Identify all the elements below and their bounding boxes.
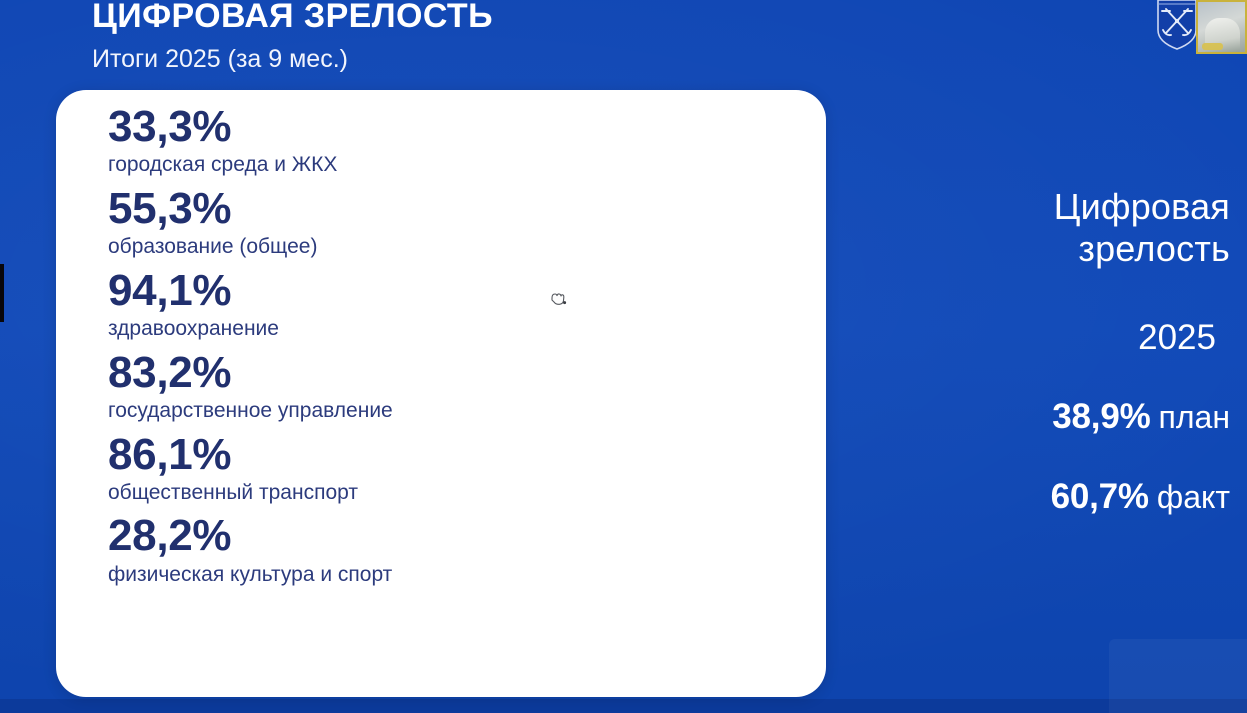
metric-label: городская среда и ЖКХ — [108, 152, 806, 178]
metric-label: здравоохранение — [108, 316, 806, 342]
summary-year: 2025 — [950, 319, 1230, 358]
metric-row: 33,3% городская среда и ЖКХ — [108, 102, 806, 178]
metric-row: 28,2% физическая культура и спорт — [108, 511, 806, 587]
left-edge-artifact — [0, 264, 4, 322]
metric-label: общественный транспорт — [108, 480, 806, 506]
summary-stat-name: план — [1159, 399, 1230, 435]
metric-value: 83,2% — [108, 348, 806, 397]
summary-stat-fact: 60,7%факт — [950, 477, 1230, 517]
metric-row: 94,1% здравоохранение — [108, 266, 806, 342]
slide-subtitle: Итоги 2025 (за 9 мес.) — [92, 44, 792, 74]
spb-coat-of-arms-icon — [1155, 0, 1199, 50]
metrics-list: 33,3% городская среда и ЖКХ 55,3% образо… — [108, 102, 806, 593]
summary-panel: Цифровая зрелость 2025 38,9%план 60,7%фа… — [950, 186, 1230, 517]
metric-row: 83,2% государственное управление — [108, 348, 806, 424]
metric-value: 86,1% — [108, 430, 806, 479]
slide-title: ЦИФРОВАЯ ЗРЕЛОСТЬ — [92, 0, 792, 36]
summary-stat-name: факт — [1157, 479, 1230, 515]
summary-stat-plan: 38,9%план — [950, 397, 1230, 437]
summary-title: Цифровая зрелость — [950, 186, 1230, 271]
metric-row: 86,1% общественный транспорт — [108, 430, 806, 506]
metric-label: государственное управление — [108, 398, 806, 424]
bottom-blue-band — [0, 699, 1247, 713]
metric-label: физическая культура и спорт — [108, 562, 806, 588]
summary-stat-value: 38,9% — [1052, 397, 1150, 436]
summary-stat-value: 60,7% — [1051, 477, 1149, 516]
metrics-card: 33,3% городская среда и ЖКХ 55,3% образо… — [56, 90, 826, 697]
slide-screen: ЦИФРОВАЯ ЗРЕЛОСТЬ Итоги 2025 (за 9 мес.)… — [0, 0, 1247, 713]
metric-value: 55,3% — [108, 184, 806, 233]
speaker-video-thumbnail[interactable] — [1196, 0, 1247, 54]
metric-value: 94,1% — [108, 266, 806, 315]
slide-header: ЦИФРОВАЯ ЗРЕЛОСТЬ Итоги 2025 (за 9 мес.) — [92, 0, 792, 74]
speaker-accent — [1202, 43, 1224, 50]
metric-value: 33,3% — [108, 102, 806, 151]
metric-label: образование (общее) — [108, 234, 806, 260]
metric-row: 55,3% образование (общее) — [108, 184, 806, 260]
bottom-right-overlay-panel — [1109, 639, 1247, 713]
metric-value: 28,2% — [108, 511, 806, 560]
